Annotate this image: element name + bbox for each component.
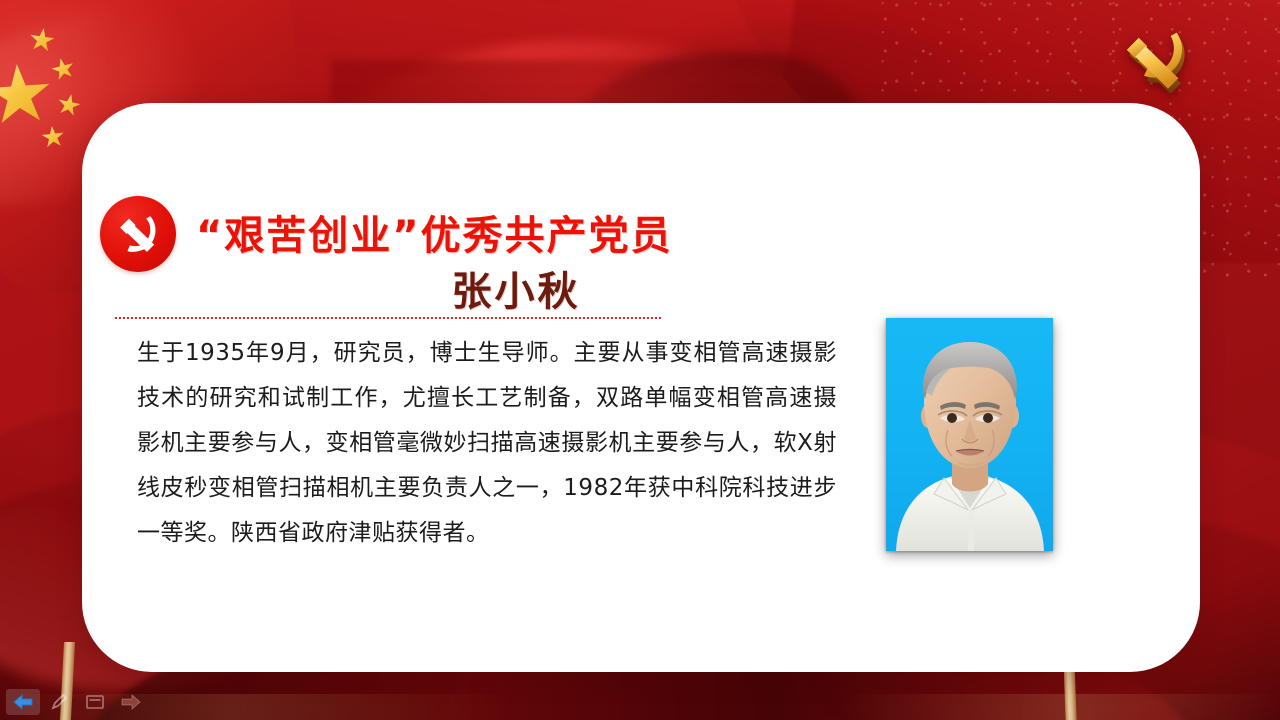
portrait-figure <box>886 318 1053 551</box>
title-divider <box>115 317 661 319</box>
arrow-right-icon <box>121 694 141 710</box>
biography-paragraph: 生于1935年9月，研究员，博士生导师。主要从事变相管高速摄影技术的研究和试制工… <box>137 331 837 556</box>
arrow-left-icon <box>13 694 33 710</box>
content-card: “艰苦创业”优秀共产党员 张小秋 生于1935年9月，研究员，博士生导师。主要从… <box>82 103 1200 672</box>
pointer-options-button[interactable] <box>42 689 76 715</box>
gold-band-decoration <box>0 694 1280 720</box>
gold-hammer-sickle-icon <box>1112 24 1200 98</box>
pen-icon <box>50 693 68 711</box>
slide-menu-icon <box>86 695 104 709</box>
slideshow-toolbar[interactable] <box>6 688 148 716</box>
next-slide-button[interactable] <box>114 689 148 715</box>
page-title-line-1: “艰苦创业”优秀共产党员 <box>196 203 836 261</box>
hammer-sickle-icon <box>112 208 164 260</box>
portrait-photo <box>886 318 1053 551</box>
presentation-slide: “艰苦创业”优秀共产党员 张小秋 生于1935年9月，研究员，博士生导师。主要从… <box>0 0 1280 720</box>
page-title-line-2: 张小秋 <box>196 259 836 317</box>
slide-menu-button[interactable] <box>78 689 112 715</box>
previous-slide-button[interactable] <box>6 689 40 715</box>
party-emblem-badge <box>100 196 176 272</box>
